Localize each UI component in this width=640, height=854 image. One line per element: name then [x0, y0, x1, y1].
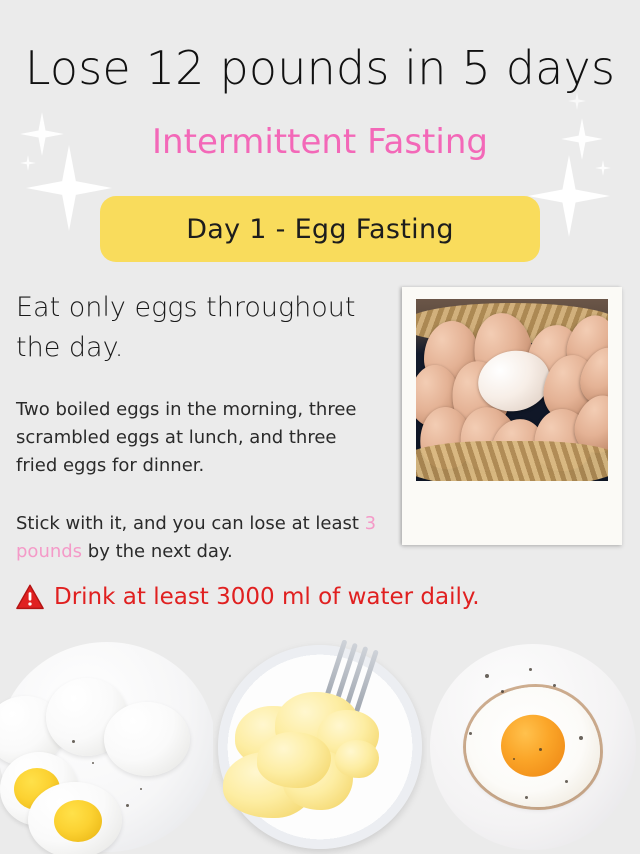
fried-egg-photo: [427, 640, 640, 854]
scrambled-egg-mound: [335, 740, 379, 778]
pepper-speck: [525, 796, 528, 799]
page-title: Lose 12 pounds in 5 days: [0, 40, 640, 96]
result-text-before: Stick with it, and you can lose at least: [16, 513, 365, 534]
hydration-warning-text: Drink at least 3000 ml of water daily.: [54, 582, 480, 612]
pepper-speck: [529, 668, 532, 671]
result-paragraph: Stick with it, and you can lose at least…: [16, 510, 378, 566]
scrambled-eggs-photo: [213, 640, 426, 854]
poster-root: Lose 12 pounds in 5 days Intermittent Fa…: [0, 0, 640, 854]
result-text-after: by the next day.: [82, 541, 233, 562]
pepper-speck: [565, 780, 568, 783]
pepper-speck: [140, 788, 142, 790]
meal-plan-paragraph: Two boiled eggs in the morning, three sc…: [16, 396, 378, 480]
scrambled-egg-mound: [257, 732, 331, 788]
boiled-egg-shape: [104, 702, 190, 776]
food-photo-strip: [0, 640, 640, 854]
page-subtitle: Intermittent Fasting: [0, 120, 640, 164]
hydration-warning: Drink at least 3000 ml of water daily.: [16, 582, 616, 612]
yolk-shape: [54, 800, 102, 842]
pepper-speck: [92, 762, 94, 764]
sparkle-icon: [528, 155, 610, 237]
pepper-speck: [72, 740, 75, 743]
pepper-speck: [469, 732, 472, 735]
day-banner: Day 1 - Egg Fasting: [100, 196, 540, 262]
pepper-speck: [501, 690, 504, 693]
warning-triangle-icon: [16, 583, 44, 611]
fried-egg-yolk: [501, 715, 565, 777]
basket-weave-bottom: [416, 441, 608, 481]
pepper-speck: [485, 674, 489, 678]
pepper-speck: [513, 758, 515, 760]
egg-basket-photo: [416, 299, 608, 481]
egg-basket-photo-card: [402, 287, 622, 545]
boiled-eggs-photo: [0, 640, 213, 854]
day-banner-label: Day 1 - Egg Fasting: [186, 214, 454, 245]
pepper-speck: [126, 804, 129, 807]
pepper-speck: [539, 748, 542, 751]
pepper-speck: [579, 736, 583, 740]
pepper-speck: [553, 684, 556, 687]
lede-text: Eat only eggs throughout the day.: [16, 288, 376, 368]
